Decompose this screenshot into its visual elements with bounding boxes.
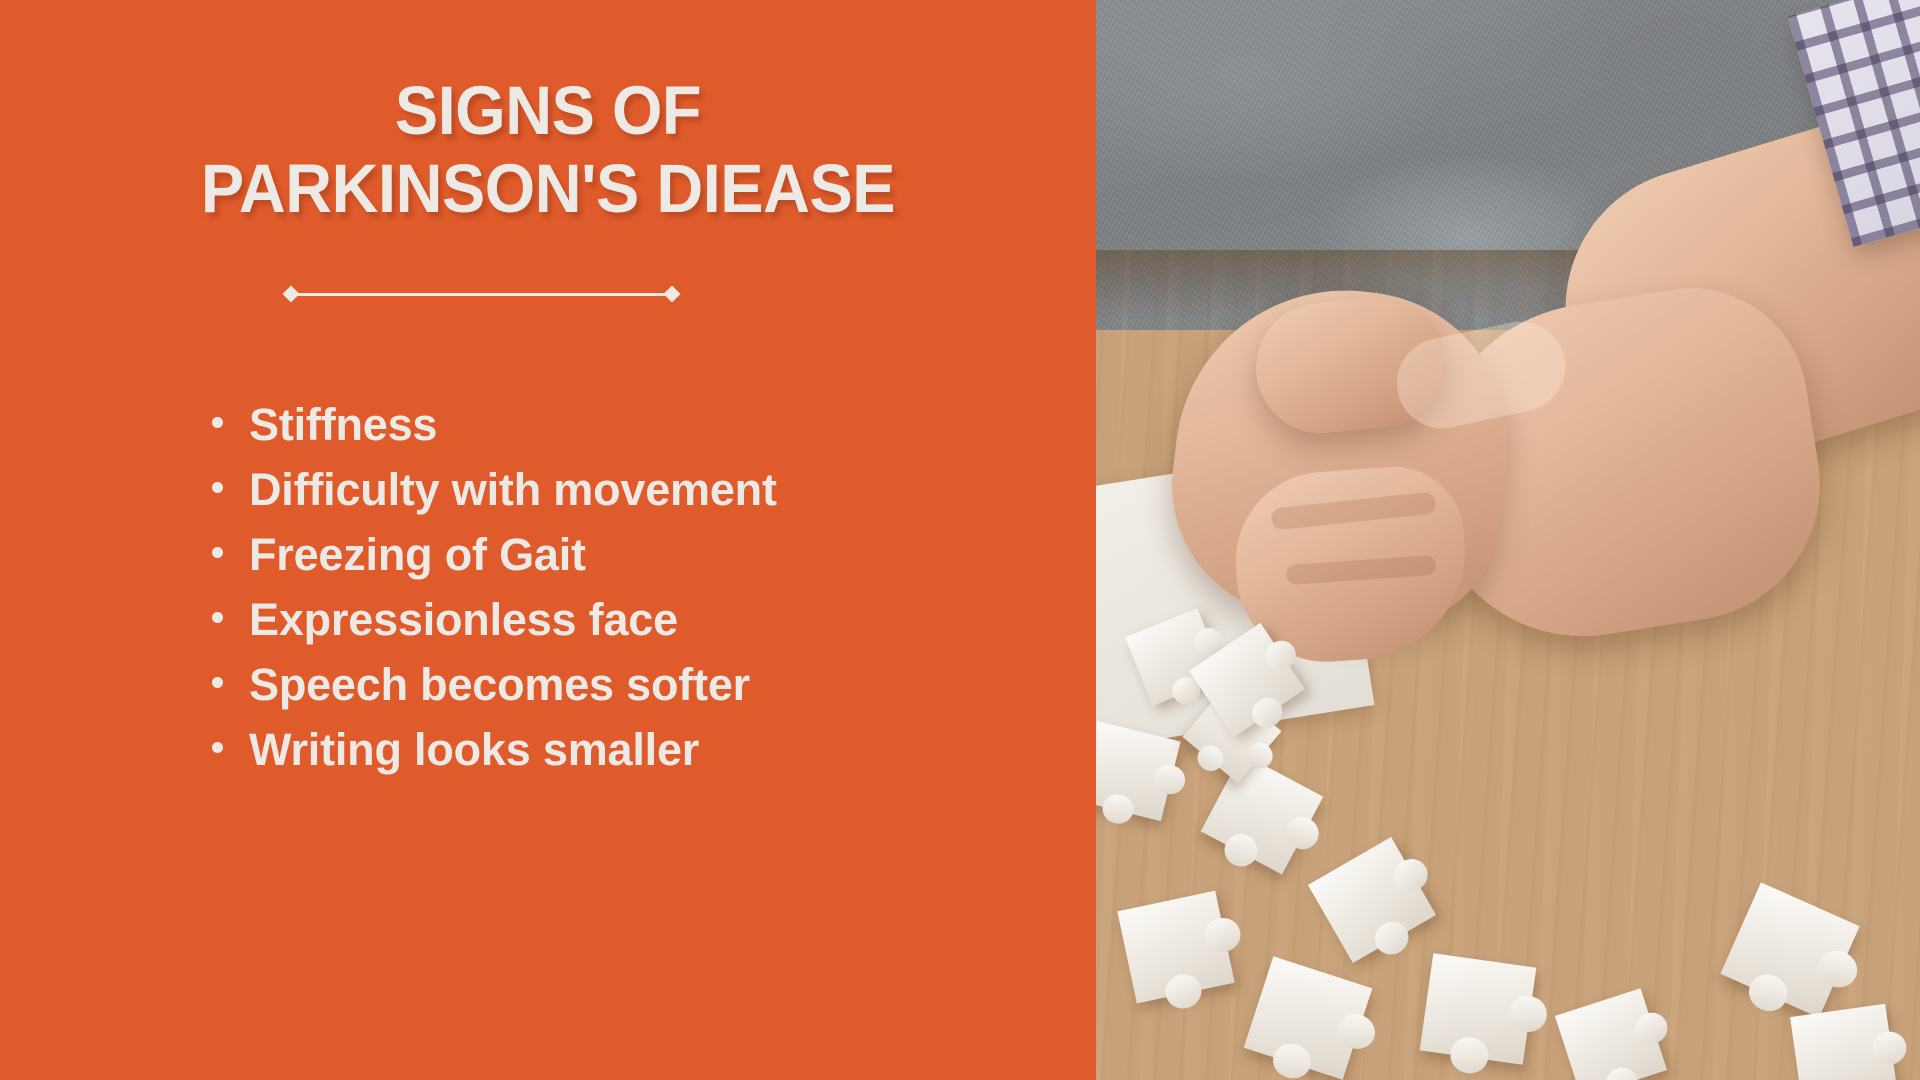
list-item: Speech becomes softer [212, 652, 777, 717]
slide-canvas: SIGNS OF PARKINSON'S DIEASE Stiffness Di… [0, 0, 1920, 1080]
list-item: Freezing of Gait [212, 522, 777, 587]
bullet-dot-icon [212, 482, 223, 493]
list-item: Expressionless face [212, 587, 777, 652]
bullet-dot-icon [212, 547, 223, 558]
list-item-label: Writing looks smaller [249, 717, 699, 782]
page-title: SIGNS OF PARKINSON'S DIEASE [0, 72, 1096, 228]
photo-hands-puzzle [1096, 0, 1920, 1080]
bullet-dot-icon [212, 417, 223, 428]
list-item-label: Expressionless face [249, 587, 678, 652]
list-item-label: Stiffness [249, 392, 437, 457]
symptom-list: Stiffness Difficulty with movement Freez… [212, 392, 777, 782]
diamond-right-icon [664, 286, 681, 303]
list-item-label: Speech becomes softer [249, 652, 750, 717]
bullet-dot-icon [212, 612, 223, 623]
bullet-dot-icon [212, 742, 223, 753]
list-item: Difficulty with movement [212, 457, 777, 522]
list-item: Stiffness [212, 392, 777, 457]
divider-line [296, 293, 667, 296]
puzzle-piece [1790, 1004, 1898, 1080]
bullet-dot-icon [212, 677, 223, 688]
puzzle-piece [1420, 953, 1537, 1065]
list-item-label: Freezing of Gait [249, 522, 586, 587]
title-line-1: SIGNS OF [33, 72, 1063, 150]
list-item: Writing looks smaller [212, 717, 777, 782]
list-item-label: Difficulty with movement [249, 457, 777, 522]
orange-content-panel: SIGNS OF PARKINSON'S DIEASE Stiffness Di… [0, 0, 1096, 1080]
divider-ornament [285, 283, 678, 305]
title-line-2: PARKINSON'S DIEASE [33, 150, 1063, 228]
